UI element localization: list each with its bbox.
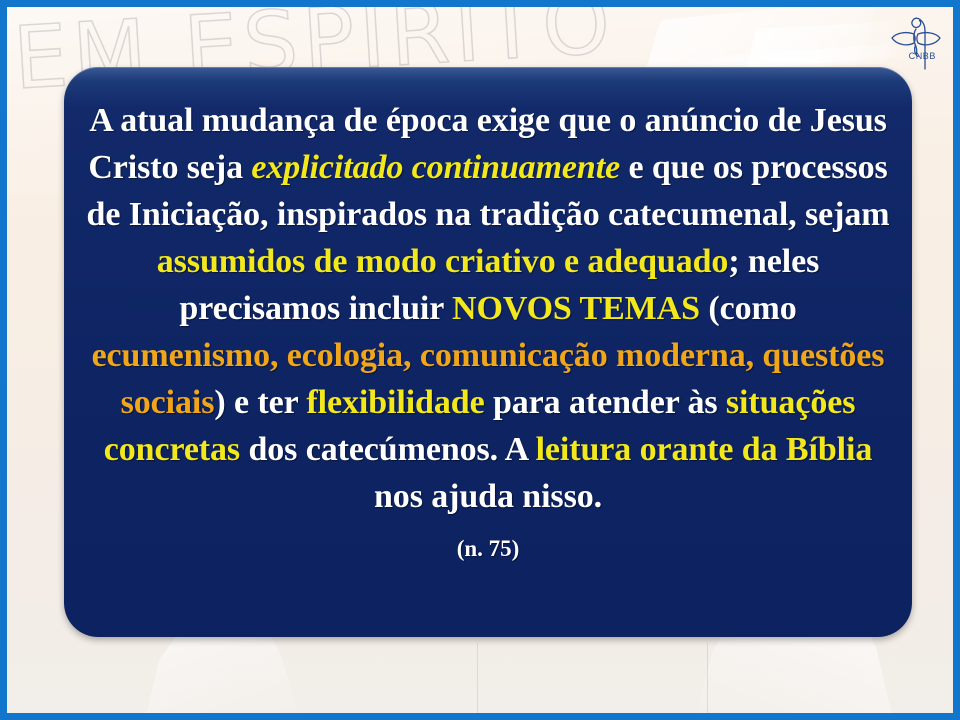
slide-canvas: EM ESPÍRITO CNBB A atual mudança de époc…	[0, 0, 960, 720]
quote-text: A atual mudança de época exige que o anú…	[86, 97, 890, 520]
quote-segment-3: assumidos de modo criativo e adequado	[157, 243, 729, 280]
background-divider-line	[707, 643, 708, 713]
quote-panel: A atual mudança de época exige que o anú…	[64, 67, 912, 637]
quote-segment-9: flexibilidade	[306, 384, 484, 421]
quote-segment-14: nos ajuda nisso.	[374, 478, 602, 515]
quote-segment-6: (como	[700, 290, 797, 327]
cnbb-logo-icon	[887, 9, 945, 71]
quote-segment-12: dos catecúmenos. A	[240, 431, 536, 468]
quote-reference: (n. 75)	[86, 532, 890, 566]
quote-segment-5: NOVOS TEMAS	[452, 290, 700, 327]
quote-segment-8: ) e ter	[214, 384, 306, 421]
quote-segment-10: para atender às	[485, 384, 726, 421]
cnbb-logo-label: CNBB	[909, 51, 936, 61]
quote-segment-1: explicitado continuamente	[251, 149, 620, 186]
quote-segment-13: leitura orante da Bíblia	[536, 431, 873, 468]
background-divider-line	[477, 643, 478, 713]
